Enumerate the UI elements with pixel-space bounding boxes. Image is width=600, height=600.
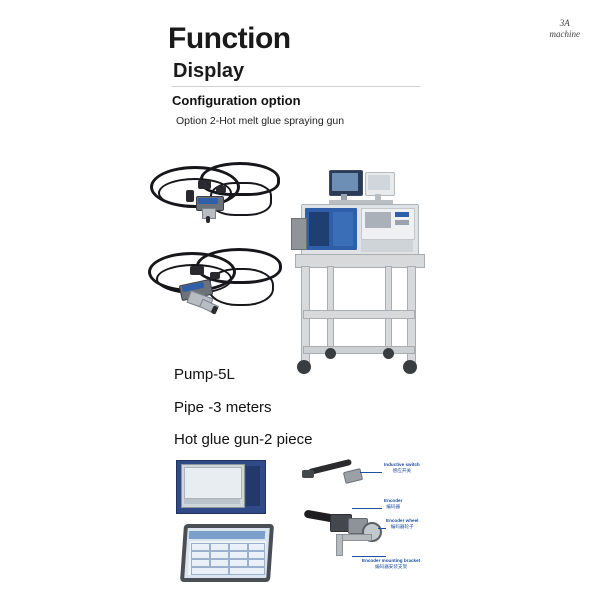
brand-line-1: 3A (550, 18, 581, 29)
caster-wheel (325, 348, 336, 359)
callout-encoder-cn: 编码器 (386, 504, 400, 509)
cart-table-top (295, 254, 425, 268)
machine-on-cart-photo (285, 160, 445, 395)
callout-encoder-bracket: Encoder mounting bracket 编码器安装支架 (362, 558, 420, 570)
title-divider (172, 86, 420, 87)
callout-encoder: Encoder 编码器 (384, 498, 402, 510)
caster-wheel (297, 360, 311, 374)
page-title: Function (168, 22, 291, 56)
spec-item-pipe: Pipe -3 meters (174, 399, 272, 416)
callout-encoder-bracket-cn: 编码器安装支架 (375, 564, 407, 569)
document-page: 3A machine Function Display Configuratio… (0, 0, 600, 600)
callout-inductive-switch: Inductive switch 感应开关 (384, 462, 420, 474)
brand-line-2: machine (550, 29, 581, 40)
sensor-encoder-diagram: Inductive switch 感应开关 Encoder 编码器 Encode… (300, 456, 470, 586)
callout-encoder-wheel-cn: 编码器轮子 (391, 524, 414, 529)
touch-panel-photo (182, 524, 274, 586)
brand-mark: 3A machine (550, 18, 581, 41)
spec-item-pump: Pump-5L (174, 366, 235, 383)
hot-glue-gun-assembly-photo-1 (148, 160, 280, 228)
configuration-heading: Configuration option (172, 93, 301, 108)
hmi-controller-photo (176, 458, 268, 514)
caster-wheel (403, 360, 417, 374)
page-subtitle: Display (173, 60, 244, 83)
hot-glue-gun-assembly-photo-2 (148, 248, 280, 320)
configuration-option-text: Option 2-Hot melt glue spraying gun (176, 115, 344, 127)
callout-encoder-wheel: Encoder wheel 编码器轮子 (386, 518, 418, 530)
spec-item-gun: Hot glue gun-2 piece (174, 431, 312, 448)
caster-wheel (383, 348, 394, 359)
callout-inductive-switch-cn: 感应开关 (393, 468, 411, 473)
